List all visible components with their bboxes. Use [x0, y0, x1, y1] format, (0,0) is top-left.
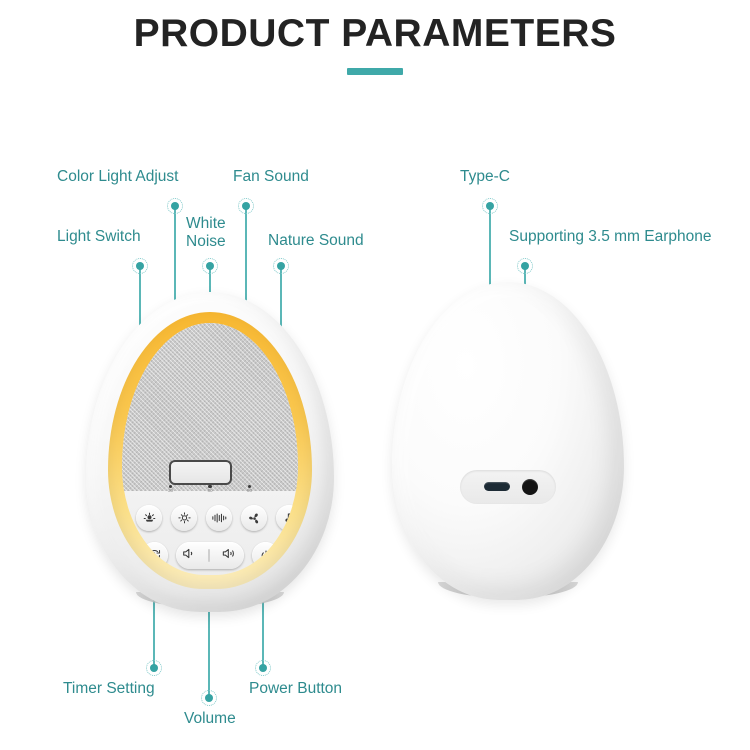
power-icon	[259, 549, 273, 563]
callout-dot-earphone	[517, 258, 533, 274]
callout-dot-timer-setting	[146, 660, 162, 676]
usb-c-port-icon[interactable]	[484, 482, 510, 491]
device-rear-shell	[392, 282, 624, 600]
fan-icon	[247, 511, 262, 526]
device-rear-view	[392, 282, 624, 612]
title-underline-accent	[347, 68, 403, 75]
callout-dot-color-light-adjust	[167, 198, 183, 214]
callout-dot-type-c	[482, 198, 498, 214]
page-title: PRODUCT PARAMETERS	[0, 12, 750, 56]
rocker-divider	[208, 549, 210, 562]
white-noise-button[interactable]	[206, 505, 232, 531]
color-light-icon	[177, 511, 192, 526]
headphone-jack-icon[interactable]	[522, 479, 538, 495]
nature-sound-button[interactable]	[276, 505, 298, 531]
callout-label-power-button: Power Button	[249, 680, 342, 698]
lamp-icon	[142, 511, 157, 526]
callout-label-timer-setting: Timer Setting	[63, 680, 155, 698]
callout-label-white-noise-line1: White	[186, 215, 226, 233]
timer-indicator-30: 30	[168, 485, 173, 494]
callout-dot-nature-sound	[273, 258, 289, 274]
callout-label-type-c: Type-C	[460, 168, 510, 186]
fan-sound-button[interactable]	[241, 505, 267, 531]
timer-icon	[147, 548, 162, 563]
callout-label-nature-sound: Nature Sound	[268, 232, 364, 250]
volume-down-icon[interactable]	[182, 547, 197, 565]
timer-led-label: 30	[168, 489, 173, 494]
device-front-view: 30 60 90	[86, 292, 334, 612]
callout-label-volume: Volume	[184, 710, 236, 728]
callout-label-light-switch: Light Switch	[57, 228, 141, 246]
callout-dot-volume	[201, 690, 217, 706]
timer-led-label: 60	[207, 489, 212, 494]
callout-label-white-noise-line2: Noise	[186, 233, 226, 251]
timer-button[interactable]	[141, 542, 168, 569]
power-button[interactable]	[252, 542, 279, 569]
waveform-icon	[211, 511, 227, 525]
callout-dot-light-switch	[132, 258, 148, 274]
timer-indicator-60: 60	[207, 485, 212, 494]
display-screen	[169, 460, 232, 485]
color-light-adjust-button[interactable]	[171, 505, 197, 531]
callout-label-fan-sound: Fan Sound	[233, 168, 309, 186]
callout-dot-fan-sound	[238, 198, 254, 214]
callout-dot-white-noise	[202, 258, 218, 274]
callout-label-earphone: Supporting 3.5 mm Earphone	[509, 228, 711, 246]
music-note-icon	[282, 511, 296, 525]
light-switch-button[interactable]	[136, 505, 162, 531]
volume-rocker[interactable]	[176, 542, 244, 569]
callout-dot-power-button	[255, 660, 271, 676]
infographic-canvas: PRODUCT PARAMETERS Light Switch Color Li…	[0, 0, 750, 750]
timer-indicator-90: 90	[247, 485, 252, 494]
timer-indicator-group: 30 60 90	[168, 485, 252, 494]
callout-label-color-light-adjust: Color Light Adjust	[57, 168, 179, 186]
device-front-face: 30 60 90	[122, 323, 298, 575]
timer-led-label: 90	[247, 489, 252, 494]
volume-up-icon[interactable]	[222, 547, 238, 565]
